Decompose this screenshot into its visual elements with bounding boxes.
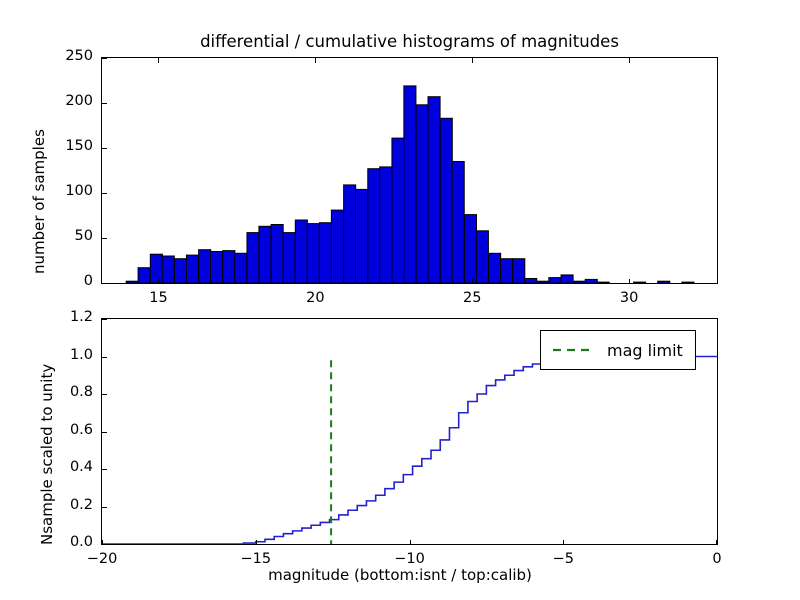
histogram-bar: [211, 252, 223, 284]
tick-mark: [102, 283, 107, 284]
histogram-bar: [489, 253, 501, 283]
tick-mark: [102, 540, 103, 545]
histogram-bar: [138, 268, 150, 283]
histogram-bar: [452, 162, 464, 284]
tick-mark: [102, 148, 107, 149]
tick-mark: [102, 507, 107, 508]
tick-label: 0.2: [70, 497, 93, 513]
tick-label: 25: [463, 290, 481, 306]
bottom-panel-y-axis-label: Nsample scaled to unity: [38, 364, 56, 545]
tick-mark: [256, 540, 257, 545]
tick-label: −5: [553, 551, 574, 567]
histogram-bar: [464, 215, 476, 283]
tick-mark: [629, 279, 630, 284]
histogram-bar: [295, 220, 307, 283]
histogram-bar: [525, 279, 537, 284]
histogram-bar: [344, 185, 356, 283]
histogram-bar: [186, 255, 198, 283]
histogram-bar: [440, 118, 452, 283]
tick-label: 15: [149, 290, 167, 306]
histogram-bar: [356, 189, 368, 283]
histogram-bar: [162, 256, 174, 283]
tick-label: −10: [394, 551, 425, 567]
cumulative-step-line: [102, 357, 717, 545]
histogram-bar: [682, 282, 694, 283]
tick-mark: [102, 357, 107, 358]
tick-mark: [410, 540, 411, 545]
tick-label: −15: [240, 551, 271, 567]
tick-label: 0.6: [70, 422, 93, 438]
histogram-bar: [537, 281, 549, 283]
tick-mark: [315, 279, 316, 284]
histogram-bar: [561, 275, 573, 283]
tick-label: 150: [65, 138, 93, 154]
legend[interactable]: mag limit: [540, 330, 696, 370]
histogram-bar: [283, 233, 295, 283]
legend-label-mag-limit: mag limit: [607, 341, 683, 360]
tick-mark: [102, 193, 107, 194]
tick-mark: [102, 319, 107, 320]
histogram-bar: [658, 281, 670, 283]
histogram-bar: [513, 259, 525, 283]
histogram-bar: [307, 224, 319, 283]
tick-mark: [102, 103, 107, 104]
histogram-bar: [380, 167, 392, 283]
tick-label: 100: [65, 183, 93, 199]
tick-mark: [102, 238, 107, 239]
tick-label: 0.4: [70, 459, 93, 475]
tick-mark: [102, 432, 107, 433]
tick-label: 50: [75, 228, 93, 244]
histogram-bar: [247, 233, 259, 283]
tick-label: 0.0: [70, 534, 93, 550]
tick-label: 250: [65, 48, 93, 64]
histogram-bar: [634, 282, 646, 283]
tick-mark: [315, 58, 316, 63]
histogram-bar: [404, 86, 416, 283]
x-axis-label: magnitude (bottom:isnt / top:calib): [0, 566, 800, 584]
histogram-bar: [500, 259, 512, 283]
legend-dashed-line-icon: [551, 344, 591, 356]
histogram-bar: [416, 105, 428, 283]
tick-mark: [102, 394, 107, 395]
histogram-bar: [573, 281, 585, 283]
tick-label: −20: [87, 551, 118, 567]
histogram-bar: [199, 250, 211, 283]
tick-label: 200: [65, 93, 93, 109]
tick-label: 1.2: [70, 309, 93, 325]
tick-label: 0: [712, 551, 721, 567]
figure-canvas: differential / cumulative histograms of …: [0, 0, 800, 600]
tick-label: 30: [620, 290, 638, 306]
histogram-bar: [259, 226, 271, 283]
histogram-bar: [331, 210, 343, 283]
histogram-bar: [549, 278, 561, 283]
histogram-bar: [597, 282, 609, 283]
tick-mark: [158, 279, 159, 284]
histogram-bar: [126, 281, 138, 283]
tick-label: 0.8: [70, 384, 93, 400]
histogram-bar: [392, 138, 404, 283]
histogram-bar: [585, 279, 597, 283]
histogram-bar: [428, 97, 440, 283]
histogram-bar: [368, 169, 380, 283]
tick-mark: [102, 58, 107, 59]
histogram-bars: [102, 58, 717, 283]
tick-mark: [472, 279, 473, 284]
tick-label: 1.0: [70, 347, 93, 363]
tick-mark: [716, 540, 717, 545]
histogram-bar: [476, 231, 488, 283]
chart-title: differential / cumulative histograms of …: [101, 32, 718, 51]
histogram-bar: [150, 254, 162, 283]
top-panel-y-axis-label: number of samples: [30, 129, 48, 274]
histogram-bar: [235, 253, 247, 283]
tick-mark: [629, 58, 630, 63]
top-panel-plot-area: [101, 57, 718, 284]
histogram-bar: [174, 259, 186, 283]
histogram-bar: [223, 251, 235, 283]
tick-mark: [563, 540, 564, 545]
tick-mark: [102, 469, 107, 470]
tick-mark: [158, 58, 159, 63]
tick-mark: [472, 58, 473, 63]
tick-label: 20: [306, 290, 324, 306]
tick-label: 0: [84, 273, 93, 289]
histogram-bar: [271, 225, 283, 284]
histogram-bar: [319, 223, 331, 283]
